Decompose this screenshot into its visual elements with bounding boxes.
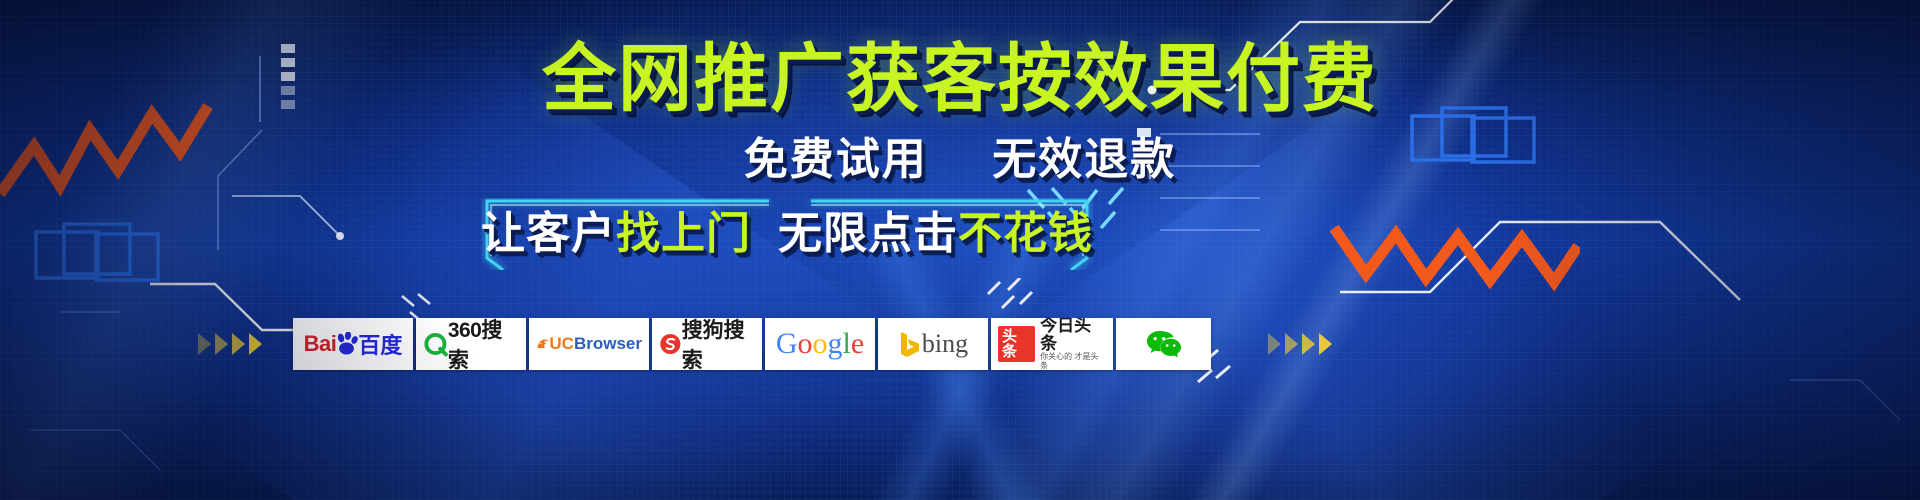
slogan-text: 让客户找上门无限点击不花钱 — [481, 198, 1093, 270]
slogan-part-4: 不花钱 — [958, 212, 1093, 256]
chevron-icon — [1268, 333, 1281, 355]
logo-bing[interactable]: bing — [878, 318, 988, 370]
toutiao-tagline: 你关心的 才是头条 — [1040, 353, 1106, 370]
baidu-label-bai: Bai — [304, 331, 337, 357]
google-wordmark-icon: Google — [776, 329, 864, 359]
uc-label-browser: Browser — [574, 334, 642, 353]
subtitle-free-trial: 免费试用 — [744, 135, 928, 184]
chevron-icon — [198, 333, 211, 355]
subtitle-refund: 无效退款 — [992, 135, 1176, 184]
logo-sogou-search[interactable]: 搜狗搜索 — [652, 318, 762, 370]
chevron-icon — [215, 333, 228, 355]
wechat-icon — [1146, 329, 1182, 359]
logo-google[interactable]: Google Google — [765, 318, 875, 370]
sogou-s-icon — [659, 331, 682, 357]
page-title: 全网推广获客按效果付费 — [542, 42, 1378, 116]
toutiao-badge-icon: 头条 — [998, 326, 1035, 362]
uc-label: UCBrowser — [549, 334, 642, 354]
slogan-part-2: 找上门 — [616, 212, 751, 256]
bing-label: bing — [922, 329, 968, 359]
chevron-icon — [1302, 333, 1315, 355]
squirrel-icon — [536, 331, 549, 357]
logo-wechat[interactable] — [1116, 318, 1211, 370]
uc-label-uc: UC — [549, 334, 574, 353]
slogan-part-1: 让客户 — [481, 212, 616, 256]
chevron-icon — [249, 333, 262, 355]
logo-toutiao[interactable]: 头条 今日头条 你关心的 才是头条 — [991, 318, 1113, 370]
partner-logo-strip: Bai 百度 360搜索 UCBrowser — [293, 318, 1211, 370]
paw-icon — [336, 332, 358, 356]
sogou-label: 搜狗搜索 — [682, 318, 755, 370]
circle-q-icon — [423, 331, 448, 357]
chevron-icon — [1285, 333, 1298, 355]
toutiao-label: 今日头条 — [1040, 318, 1106, 353]
framed-slogan: 让客户找上门无限点击不花钱 — [481, 198, 1093, 270]
logo-uc-browser[interactable]: UCBrowser — [529, 318, 649, 370]
logo-360-search[interactable]: 360搜索 — [416, 318, 526, 370]
360-label: 360搜索 — [448, 318, 519, 370]
chevrons-right — [1268, 333, 1332, 355]
subtitle-line: 免费试用 无效退款 — [744, 138, 1176, 182]
bing-b-icon — [898, 330, 922, 358]
chevrons-left — [198, 333, 262, 355]
slogan-part-3: 无限点击 — [778, 212, 958, 256]
promo-banner: 全网推广获客按效果付费 免费试用 无效退款 — [0, 0, 1920, 500]
baidu-label-cn: 百度 — [358, 328, 402, 360]
logo-baidu[interactable]: Bai 百度 — [293, 318, 413, 370]
chevron-icon — [1319, 333, 1332, 355]
chevron-icon — [232, 333, 245, 355]
